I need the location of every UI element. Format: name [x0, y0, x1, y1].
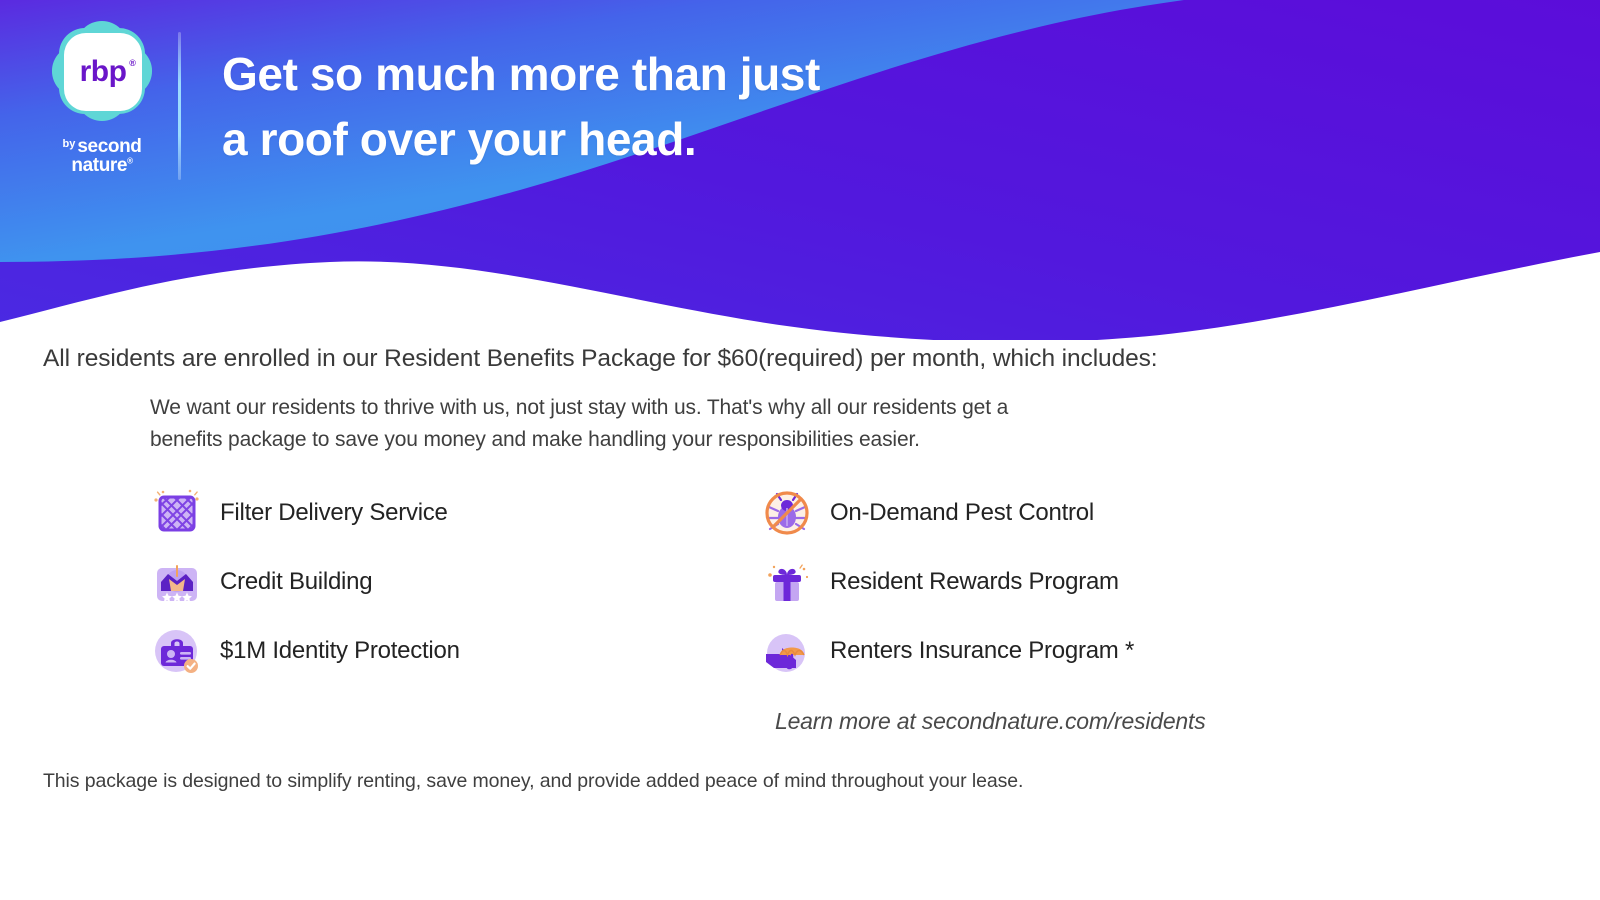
- identity-protection-icon: [150, 624, 204, 678]
- hero-vertical-divider: [178, 32, 181, 180]
- intro-paragraph: We want our residents to thrive with us,…: [150, 392, 1330, 456]
- umbrella-insurance-icon: [760, 624, 814, 678]
- benefit-item-renters-insurance: Renters Insurance Program *: [760, 620, 1370, 682]
- benefit-item-resident-rewards: Resident Rewards Program: [760, 551, 1370, 613]
- learn-more-link[interactable]: Learn more at secondnature.com/residents: [775, 708, 1206, 735]
- hero-headline-line1: Get so much more than just: [222, 42, 820, 107]
- benefit-item-credit-building: Credit Building: [150, 551, 760, 613]
- gift-rewards-icon: [760, 555, 814, 609]
- hero-headline-line2: a roof over your head.: [222, 107, 820, 172]
- intro-paragraph-line1: We want our residents to thrive with us,…: [150, 392, 1330, 424]
- logo-badge-face: rbp®: [64, 33, 142, 111]
- benefit-item-identity-protection: $1M Identity Protection: [150, 620, 760, 682]
- package-footnote: This package is designed to simplify ren…: [43, 770, 1023, 793]
- logo-byline: bysecond nature®: [42, 137, 162, 176]
- enrollment-statement: All residents are enrolled in our Reside…: [43, 345, 1157, 373]
- rbp-logo: rbp® bysecond nature®: [42, 18, 162, 183]
- benefit-label: $1M Identity Protection: [220, 637, 460, 665]
- credit-building-icon: [150, 555, 204, 609]
- logo-name-trademark-icon: ®: [127, 157, 133, 166]
- benefit-item-filter-delivery: Filter Delivery Service: [150, 482, 760, 544]
- benefits-grid: Filter Delivery Service On-D: [150, 478, 1400, 685]
- benefit-item-pest-control: On-Demand Pest Control: [760, 482, 1370, 544]
- logo-trademark-icon: ®: [129, 59, 135, 68]
- benefit-label: Renters Insurance Program *: [830, 637, 1134, 665]
- intro-paragraph-line2: benefits package to save you money and m…: [150, 424, 1330, 456]
- benefit-label: Filter Delivery Service: [220, 499, 448, 527]
- benefit-label: Credit Building: [220, 568, 372, 596]
- logo-wordmark: rbp®: [80, 57, 127, 87]
- logo-name-line2: nature®: [42, 156, 162, 175]
- logo-badge: rbp®: [47, 18, 157, 128]
- air-filter-icon: [150, 486, 204, 540]
- hero-headline: Get so much more than just a roof over y…: [222, 42, 820, 173]
- benefit-label: On-Demand Pest Control: [830, 499, 1094, 527]
- logo-name-line1: second: [77, 136, 141, 157]
- logo-by-label: by: [63, 139, 76, 150]
- benefit-label: Resident Rewards Program: [830, 568, 1119, 596]
- pest-control-icon: [760, 486, 814, 540]
- hero-banner: rbp® bysecond nature® Get so much more t…: [0, 0, 1600, 340]
- content-section: All residents are enrolled in our Reside…: [0, 330, 1600, 900]
